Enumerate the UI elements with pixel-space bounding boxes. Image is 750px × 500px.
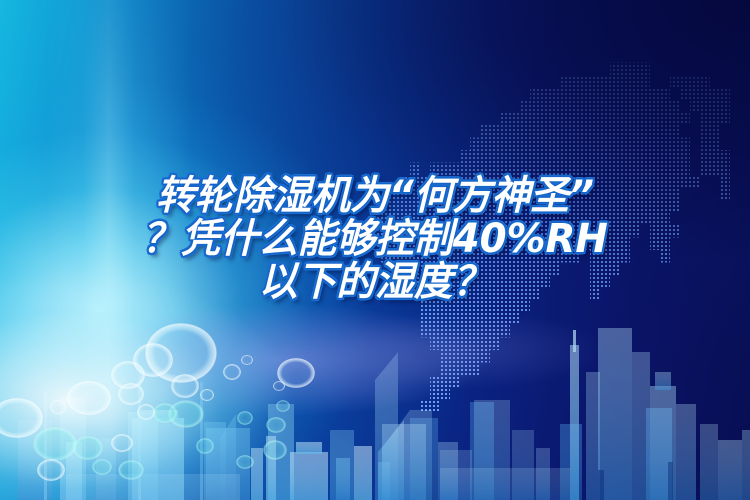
headline-line-1: 转轮除湿机为“何方神圣” — [11, 176, 739, 217]
skyline-front-row — [60, 328, 750, 500]
skyline-mid-row — [44, 370, 390, 500]
headline-line-2: ？凭什么能够控制40%RH — [11, 219, 739, 260]
bubble-group — [0, 323, 315, 481]
banner-image: 转轮除湿机为“何方神圣” ？凭什么能够控制40%RH 以下的湿度？ — [0, 0, 750, 500]
headline: 转轮除湿机为“何方神圣” ？凭什么能够控制40%RH 以下的湿度？ — [0, 176, 750, 303]
skyline-back-row — [18, 398, 672, 500]
headline-line-3: 以下的湿度？ — [11, 262, 739, 303]
